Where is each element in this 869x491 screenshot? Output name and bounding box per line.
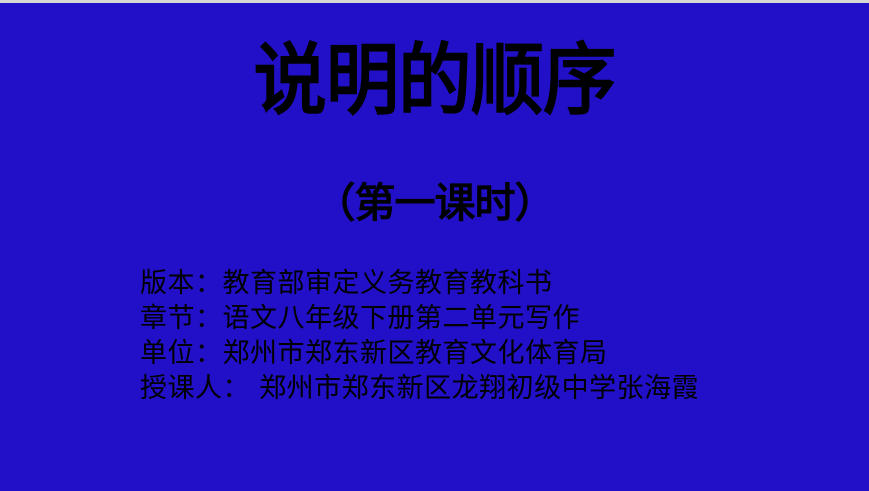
slide-title: 说明的顺序 bbox=[26, 40, 843, 123]
slide-metadata-block: 版本：教育部审定义务教育教科书 章节：语文八年级下册第二单元写作 单位：郑州市郑… bbox=[140, 266, 699, 406]
metadata-line-instructor: 授课人： 郑州市郑东新区龙翔初级中学张海霞 bbox=[140, 371, 699, 406]
metadata-line-chapter: 章节：语文八年级下册第二单元写作 bbox=[140, 301, 699, 336]
metadata-line-version: 版本：教育部审定义务教育教科书 bbox=[140, 266, 699, 301]
top-edge-strip bbox=[0, 0, 869, 3]
metadata-line-organization: 单位：郑州市郑东新区教育文化体育局 bbox=[140, 336, 699, 371]
presentation-title-slide: 说明的顺序 （第一课时） 版本：教育部审定义务教育教科书 章节：语文八年级下册第… bbox=[0, 0, 869, 491]
slide-subtitle: （第一课时） bbox=[0, 180, 869, 227]
